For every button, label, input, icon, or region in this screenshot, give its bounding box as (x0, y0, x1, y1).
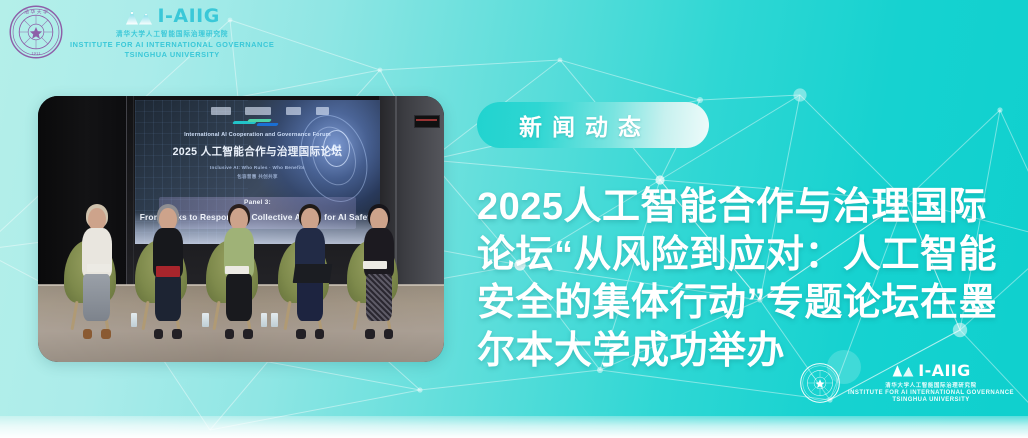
screen-title-cn: 2025 人工智能合作与治理国际论坛 (149, 144, 365, 159)
laptop-prop (292, 264, 331, 283)
bottom-fade-band (0, 416, 1028, 438)
brand-lockup-bottom: I-AIIG 清华大学人工智能国际治理研究院 INSTITUTE FOR AI … (799, 362, 1014, 404)
page-title: 2025人工智能合作与治理国际论坛“从风险到应对：人工智能安全的集体行动”专题论… (477, 183, 997, 375)
sponsor-logos (211, 106, 329, 116)
screen-title-en: International AI Cooperation and Governa… (149, 132, 365, 138)
papers-prop (225, 266, 249, 274)
brand-lockup-top: 清 华 大 学 1911 I-AIIG 清华大学人工智能国际治 (8, 4, 274, 60)
papers-prop (87, 264, 111, 272)
brand-name-en-line1: INSTITUTE FOR AI INTERNATIONAL GOVERNANC… (70, 40, 274, 49)
water-bottle (271, 313, 277, 328)
brand-name-cn: 清华大学人工智能国际治理研究院 (116, 28, 228, 38)
red-book-prop (156, 266, 180, 277)
aiig-peaks-icon (124, 8, 154, 26)
tsinghua-seal-icon: 清 华 大 学 1911 (8, 4, 64, 60)
news-category-label: 新闻动态 (519, 108, 651, 142)
panel-discussion-photo: AI International AI Cooperation and Gove… (38, 96, 444, 362)
news-category-badge[interactable]: 新闻动态 (477, 102, 709, 148)
brand-name-cn: 清华大学人工智能国际治理研究院 (885, 381, 976, 389)
screen-subtitle-en: Inclusive AI: Who Rules · Who Benefits (149, 165, 365, 170)
screen-subtitle-cn: 包容普惠 共创共享 (149, 174, 365, 180)
brand-name-en-line2: TSINGHUA UNIVERSITY (125, 50, 220, 59)
water-bottle (131, 313, 137, 328)
exit-sign (414, 115, 440, 128)
brand-wordmark: I-AIIG (918, 363, 970, 379)
aiig-peaks-icon (891, 363, 915, 378)
svg-text:1911: 1911 (31, 51, 40, 55)
news-banner-poster: 清 华 大 学 1911 I-AIIG 清华大学人工智能国际治 (0, 0, 1028, 438)
brand-wordmark: I-AIIG (157, 7, 219, 26)
papers-prop (363, 261, 387, 269)
water-bottle (202, 313, 208, 328)
brand-name-en-line1: INSTITUTE FOR AI INTERNATIONAL GOVERNANC… (848, 390, 1014, 396)
panelist (357, 208, 402, 333)
brand-name-en-line2: TSINGHUA UNIVERSITY (892, 397, 969, 403)
water-bottle (261, 313, 267, 328)
svg-text:清 华 大 学: 清 华 大 学 (24, 9, 48, 16)
